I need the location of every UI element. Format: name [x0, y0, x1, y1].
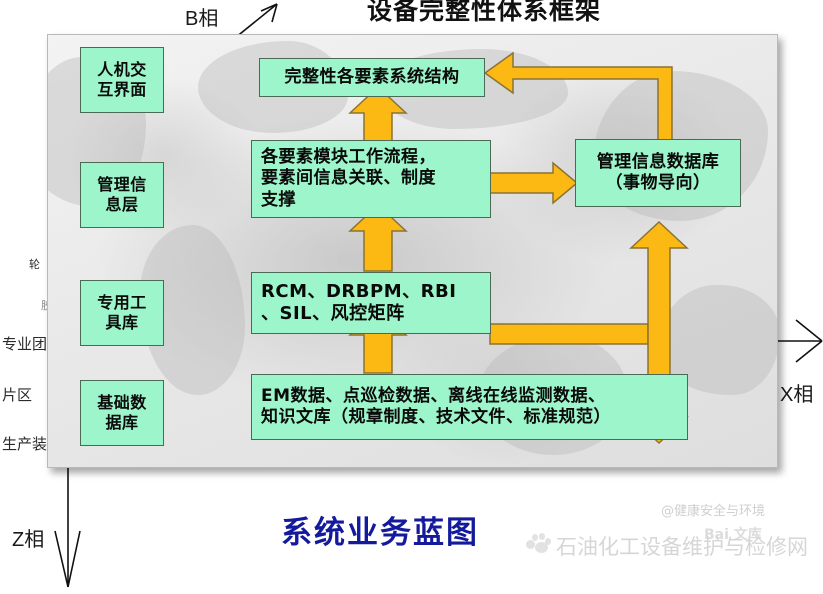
axis-label-x: X相: [780, 378, 813, 407]
axis-label-b: B相: [185, 2, 218, 31]
watermark-site: 石油化工设备维护与检修网: [556, 531, 808, 561]
node-box-workflow-label: 各要素模块工作流程，要素间信息关联、制度支撑: [252, 147, 445, 211]
layer-box-hmi[interactable]: 人机交互界面: [80, 47, 164, 113]
watermark-hse: @健康安全与环境: [661, 500, 765, 519]
layer-box-base-data-label: 基础数据库: [88, 393, 156, 433]
edge-fragment-3: 专业团: [2, 333, 47, 354]
diagram-title: 设备完整性体系框架: [367, 0, 601, 27]
layer-box-mgmt-info-label: 管理信息层: [88, 175, 156, 215]
node-box-database[interactable]: 管理信息数据库（事物导向）: [575, 139, 741, 207]
edge-fragment-1: 轮: [29, 256, 40, 272]
node-box-database-label: 管理信息数据库（事物导向）: [588, 152, 729, 195]
node-box-structure-label: 完整性各要素系统结构: [276, 67, 469, 88]
edge-fragment-5: 生产装: [2, 433, 47, 454]
layer-box-hmi-label: 人机交互界面: [88, 60, 156, 100]
diagram-caption: 系统业务蓝图: [281, 507, 479, 552]
layer-box-mgmt-info[interactable]: 管理信息层: [80, 162, 164, 228]
node-box-structure[interactable]: 完整性各要素系统结构: [259, 58, 485, 97]
node-box-methods[interactable]: RCM、DRBPM、RBI、SIL、风控矩阵: [251, 272, 491, 334]
edge-fragment-4: 片区: [2, 384, 32, 405]
layer-box-tools[interactable]: 专用工具库: [80, 280, 164, 346]
diagram-canvas: B相 X相 Z相 轮 胶 专业团 片区 生产装: [0, 0, 823, 594]
node-box-methods-label: RCM、DRBPM、RBI、SIL、风控矩阵: [252, 281, 465, 326]
node-box-data-base[interactable]: EM数据、点巡检数据、离线在线监测数据、知识文库（规章制度、技术文件、标准规范）: [251, 374, 688, 440]
axis-label-z: Z相: [12, 523, 44, 552]
layer-box-tools-label: 专用工具库: [88, 293, 156, 333]
layer-box-base-data[interactable]: 基础数据库: [80, 380, 164, 446]
watermark-paw-icon: [526, 533, 552, 553]
diagram-panel: 人机交互界面 管理信息层 专用工具库 基础数据库 完整性各要素系统结构 各要素模…: [47, 34, 778, 468]
axis-arrow-z: [47, 455, 97, 594]
node-box-data-base-label: EM数据、点巡检数据、离线在线监测数据、知识文库（规章制度、技术文件、标准规范）: [252, 386, 620, 429]
node-box-workflow[interactable]: 各要素模块工作流程，要素间信息关联、制度支撑: [251, 140, 491, 218]
arrow-workflow-to-database: [490, 163, 577, 203]
